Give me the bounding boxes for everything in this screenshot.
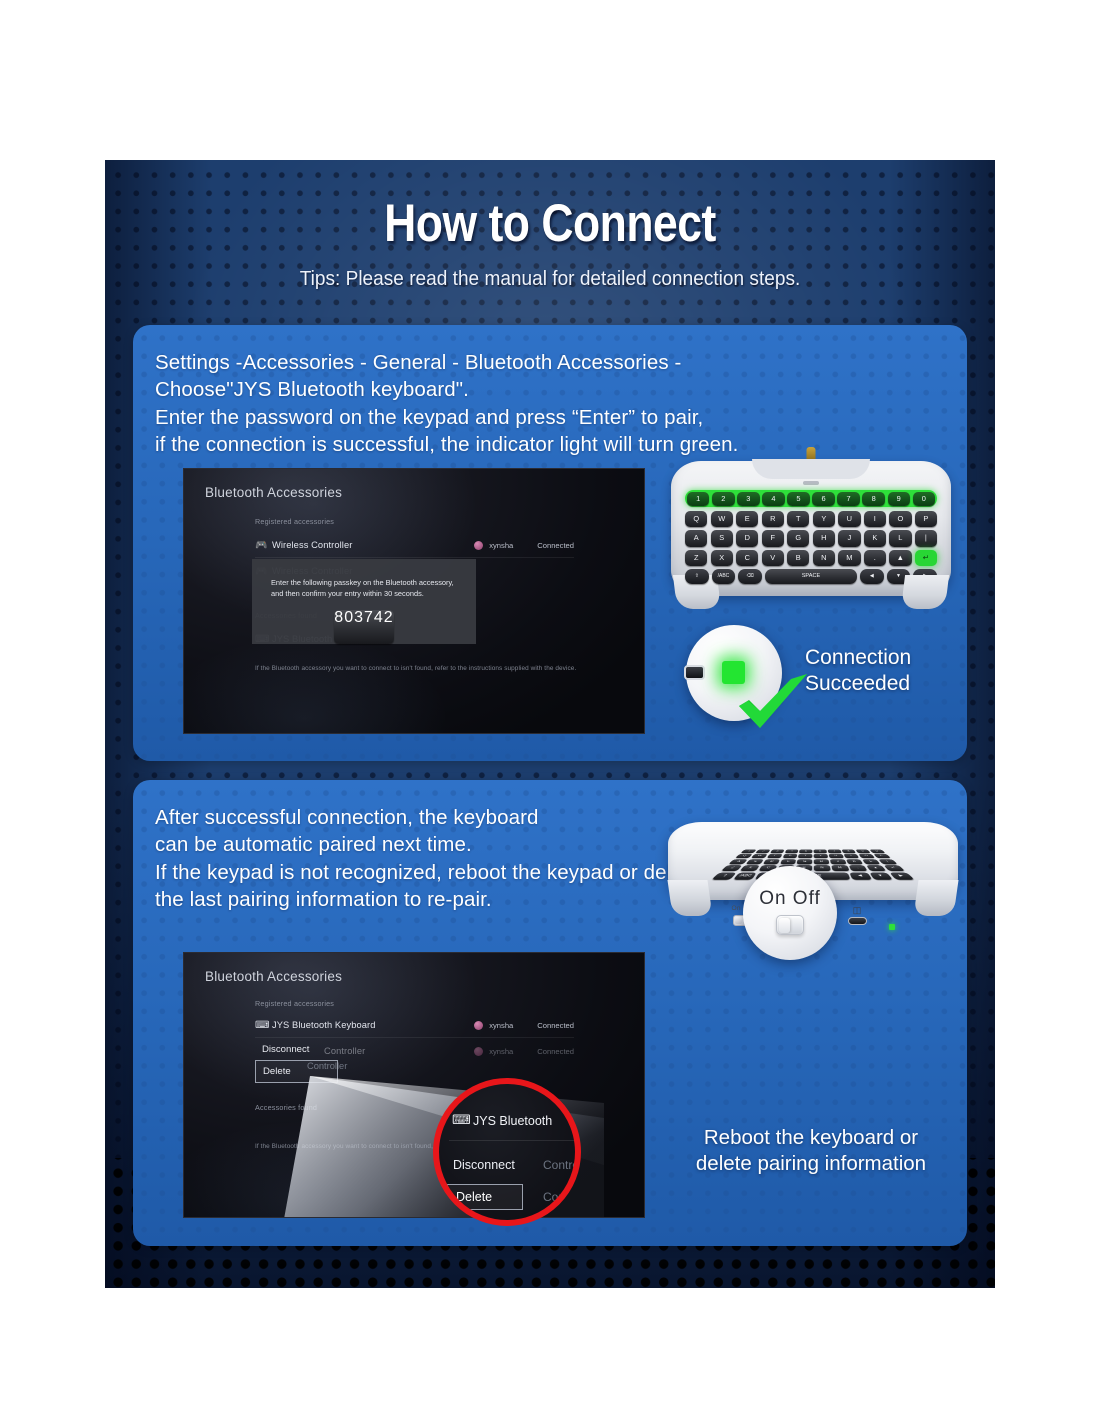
key[interactable]: N	[813, 550, 835, 567]
power-switch-large[interactable]	[776, 915, 804, 935]
status-led-green	[889, 924, 895, 930]
step-panel-connect: Settings -Accessories - General - Blueto…	[133, 325, 967, 761]
keyboard-icon: ⌨	[452, 1112, 471, 1128]
key[interactable]: H	[813, 530, 835, 547]
keyboard-slot	[803, 481, 819, 485]
usb-c-connector	[848, 917, 867, 925]
key[interactable]: 5	[799, 849, 812, 853]
passkey-dialog-line1: Enter the following passkey on the Bluet…	[271, 577, 457, 588]
magnifier-disconnect-item[interactable]: Disconnect	[453, 1158, 515, 1172]
key[interactable]: 0	[913, 492, 935, 506]
delete-menu-item[interactable]: Delete	[255, 1060, 338, 1083]
keyboard-icon: ⌨	[255, 1020, 272, 1031]
accessory-status-group: xynsha Connected	[474, 541, 574, 550]
reboot-callout: Reboot the keyboard or delete pairing in…	[631, 1125, 967, 1177]
usb-c-icon: ◫	[853, 906, 862, 915]
callout-line1: Reboot the keyboard or	[631, 1125, 967, 1151]
page-title: How to Connect	[176, 196, 924, 251]
connection-succeeded-callout: Connection Succeeded	[805, 645, 911, 696]
key[interactable]: W	[711, 511, 733, 528]
key[interactable]: 4	[785, 849, 799, 853]
key[interactable]: 8	[862, 492, 884, 506]
key[interactable]: W	[751, 854, 768, 858]
key[interactable]: 4	[762, 492, 784, 506]
instruction-line: Enter the password on the keypad and pre…	[155, 404, 967, 431]
section-registered-accessories: Registered accessories	[255, 517, 334, 526]
keyboard-row-z: Z X C V B N M . ▲ ↵	[685, 550, 937, 567]
green-checkmark-icon	[733, 670, 813, 736]
key[interactable]: 7	[837, 492, 859, 506]
disconnect-menu-item[interactable]: Disconnect	[255, 1039, 338, 1060]
key[interactable]: L	[889, 530, 911, 547]
key[interactable]: J	[838, 530, 860, 547]
magnifier-divider	[449, 1140, 575, 1141]
key[interactable]: D	[763, 859, 780, 864]
passkey-dialog-line2: and then confirm your entry within 30 se…	[271, 588, 457, 599]
enter-key-highlighted[interactable]: ↵	[915, 550, 937, 567]
instruction-line: if the connection is successful, the ind…	[155, 431, 967, 458]
onoff-label-large: On Off	[743, 888, 837, 910]
key[interactable]: E	[767, 854, 783, 858]
key[interactable]: M	[831, 865, 849, 871]
section-registered-accessories: Registered accessories	[255, 999, 334, 1008]
key[interactable]: T	[787, 511, 809, 528]
key[interactable]: K	[864, 530, 886, 547]
key[interactable]: Y	[813, 511, 835, 528]
key[interactable]: Q	[735, 854, 753, 858]
backspace-key[interactable]: ⌫	[738, 569, 762, 584]
arrow-up-key[interactable]: ▲	[889, 550, 911, 567]
arrow-right-key[interactable]: ▶	[913, 569, 937, 584]
key[interactable]: S	[746, 859, 765, 864]
keyboard-row-q: Q W E R T Y U I O P	[685, 511, 937, 528]
avatar	[474, 1021, 483, 1030]
magnifier-ghost-1: Contro	[543, 1158, 579, 1172]
accessory-name: Wireless Controller	[272, 540, 352, 550]
arrow-left-key[interactable]: ◀	[860, 569, 884, 584]
abc-key[interactable]: /ABC	[733, 872, 757, 879]
avatar	[474, 1047, 483, 1056]
gamepad-icon: 🎮	[255, 540, 272, 551]
ps5-bluetooth-accessories-screenshot: Bluetooth Accessories Registered accesso…	[183, 468, 645, 734]
row-divider	[255, 1037, 574, 1038]
magnifier-delete-item[interactable]: Delete	[447, 1184, 523, 1210]
key[interactable]: M	[838, 550, 860, 567]
section-accessories-found: Accessories found	[255, 1103, 317, 1112]
accessory-name: JYS Bluetooth Keyboard	[272, 1020, 376, 1030]
accessory-user: xynsha	[489, 1047, 513, 1056]
screen-footer-hint: If the Bluetooth accessory you want to c…	[255, 665, 604, 672]
accessory-context-menu: Disconnect Delete	[255, 1039, 338, 1083]
keyboard-product-image-top: 1 2 3 4 5 6 7 8 9 0 Q W E	[671, 461, 951, 596]
avatar	[474, 541, 483, 550]
key[interactable]: S	[711, 530, 733, 547]
key[interactable]: E	[736, 511, 758, 528]
key[interactable]: 2	[712, 492, 734, 506]
key[interactable]: U	[838, 511, 860, 528]
key[interactable]: X	[711, 550, 733, 567]
promo-banner: How to Connect Tips: Please read the man…	[105, 160, 995, 1288]
callout-line1: Connection	[805, 645, 911, 671]
key[interactable]: P	[915, 511, 937, 528]
ps5-screen-title: Bluetooth Accessories	[205, 485, 342, 500]
space-key[interactable]: SPACE	[765, 569, 857, 584]
arrow-down-key[interactable]: ▼	[887, 569, 911, 584]
abc-key[interactable]: /ABC	[712, 569, 736, 584]
key[interactable]: G	[797, 859, 812, 864]
key[interactable]: Z	[685, 550, 707, 567]
key[interactable]: B	[787, 550, 809, 567]
keyboard-notch	[752, 459, 870, 479]
key[interactable]: |	[915, 530, 937, 547]
shift-key[interactable]: ⇧	[685, 569, 709, 584]
status-badge: Connected	[537, 1021, 574, 1030]
key[interactable]: A	[685, 530, 707, 547]
key[interactable]: 3	[737, 492, 759, 506]
instruction-line: Choose"JYS Bluetooth keyboard".	[155, 376, 967, 403]
key[interactable]: 6	[814, 849, 827, 853]
page-subtitle: Tips: Please read the manual for detaile…	[136, 267, 964, 291]
key[interactable]: R	[762, 511, 784, 528]
key[interactable]: T	[798, 854, 812, 858]
passkey-value: 803742	[334, 610, 393, 644]
power-switch-magnifier-callout: On Off	[743, 866, 837, 960]
key[interactable]: O	[889, 511, 911, 528]
keyboard-keys: 1 2 3 4 5 6 7 8 9 0 Q W E	[685, 490, 937, 587]
accessory-status-group: xynsha Connected	[474, 1047, 574, 1056]
key[interactable]: 2	[755, 849, 771, 853]
instruction-line: Settings -Accessories - General - Blueto…	[155, 349, 967, 376]
accessory-status-group: xynsha Connected	[474, 1021, 574, 1030]
status-badge: Connected	[537, 541, 574, 550]
passkey-dialog: Enter the following passkey on the Bluet…	[252, 559, 476, 644]
key[interactable]: .	[864, 550, 886, 567]
callout-line2: delete pairing information	[631, 1151, 967, 1177]
screen-glow-2	[183, 1117, 454, 1218]
key[interactable]: J	[830, 859, 846, 864]
accessory-row: 🎮 Wireless Controller xynsha Connected	[255, 533, 574, 557]
key[interactable]: 9	[888, 492, 910, 506]
key[interactable]: F	[780, 859, 796, 864]
keyboard-body: 1 2 3 4 5 6 7 8 9 0 Q W E	[671, 461, 951, 596]
delete-menu-magnifier: ⌨ JYS Bluetooth Disconnect Contro Delete…	[433, 1078, 581, 1226]
ps5-screen-title: Bluetooth Accessories	[205, 969, 342, 984]
callout-line2: Succeeded	[805, 671, 911, 697]
key[interactable]: 3	[770, 849, 785, 853]
status-badge: Connected	[537, 1047, 574, 1056]
key[interactable]: N	[814, 865, 831, 871]
key[interactable]: R	[782, 854, 797, 858]
keyboard-accessory-row[interactable]: ⌨ JYS Bluetooth Keyboard xynsha Connecte…	[255, 1013, 574, 1037]
key[interactable]: 5	[787, 492, 809, 506]
accessory-user: xynsha	[489, 541, 513, 550]
key[interactable]: 1	[687, 492, 709, 506]
key[interactable]: C	[736, 550, 758, 567]
key[interactable]: 6	[812, 492, 834, 506]
keyboard-bottom-row: ⇧ /ABC ⌫ SPACE ◀ ▼ ▶	[685, 569, 937, 584]
key[interactable]: G	[787, 530, 809, 547]
accessory-user: xynsha	[489, 1021, 513, 1030]
keyboard-row-a: A S D F G H J K L |	[685, 530, 937, 547]
key[interactable]: U	[829, 854, 844, 858]
key[interactable]: H	[814, 859, 829, 864]
magnifier-accessory-title: JYS Bluetooth	[473, 1114, 552, 1128]
key[interactable]: X	[739, 865, 760, 871]
number-row-highlighted: 1 2 3 4 5 6 7 8 9 0	[685, 490, 937, 507]
magnifier-ghost-2: Cont	[543, 1190, 568, 1204]
key[interactable]: 7	[828, 849, 842, 853]
step-panel-repair: After successful connection, the keyboar…	[133, 780, 967, 1246]
port-detail	[684, 665, 705, 680]
key[interactable]: Y	[814, 854, 828, 858]
key[interactable]: F	[762, 530, 784, 547]
key[interactable]: Q	[685, 511, 707, 528]
banner-header: How to Connect Tips: Please read the man…	[105, 196, 995, 291]
key[interactable]: D	[736, 530, 758, 547]
key[interactable]: I	[864, 511, 886, 528]
panel1-instructions: Settings -Accessories - General - Blueto…	[133, 325, 967, 459]
row-divider	[255, 557, 574, 558]
key[interactable]: V	[762, 550, 784, 567]
usb-port: ◫	[848, 906, 867, 925]
